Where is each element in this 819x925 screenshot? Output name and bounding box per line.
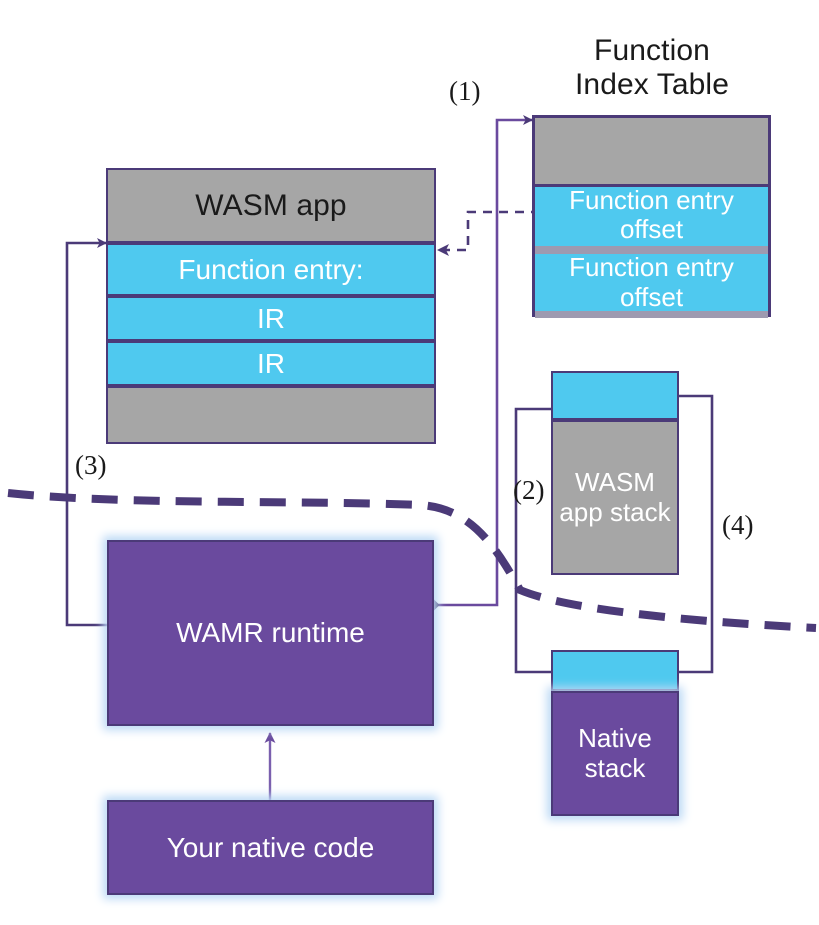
wasm-app-row-header — [106, 168, 436, 243]
wasm-app-row-footer — [106, 386, 436, 444]
step-label-1: (1) — [449, 76, 480, 107]
diagram-canvas: WASM app Function entry: IR IR Function … — [0, 0, 819, 925]
fit-row-empty-top — [535, 118, 768, 184]
connector-step-3 — [67, 243, 107, 625]
wasm-app-row-ir-2[interactable] — [106, 341, 436, 386]
wasm-app-row-function-entry[interactable] — [106, 243, 436, 296]
step-label-3: (3) — [75, 450, 106, 481]
step-label-4: (4) — [722, 510, 753, 541]
connector-step-1 — [434, 120, 532, 605]
fit-row-divider-1 — [535, 246, 768, 254]
wasm-app-stack-header[interactable] — [551, 371, 679, 420]
native-stack-body — [551, 691, 679, 816]
wasm-app-stack-body — [551, 420, 679, 575]
step-label-2: (2) — [513, 475, 544, 506]
wamr-runtime-box[interactable] — [107, 540, 434, 726]
function-index-table-title: Function Index Table — [518, 28, 786, 108]
fit-row-function-entry-offset-2[interactable] — [535, 254, 768, 311]
native-stack-header[interactable] — [551, 650, 679, 691]
fit-row-function-entry-offset-1[interactable] — [535, 184, 768, 246]
wasm-app-row-ir-1[interactable] — [106, 296, 436, 341]
fit-row-divider-2 — [535, 311, 768, 318]
your-native-code-box[interactable] — [107, 800, 434, 895]
